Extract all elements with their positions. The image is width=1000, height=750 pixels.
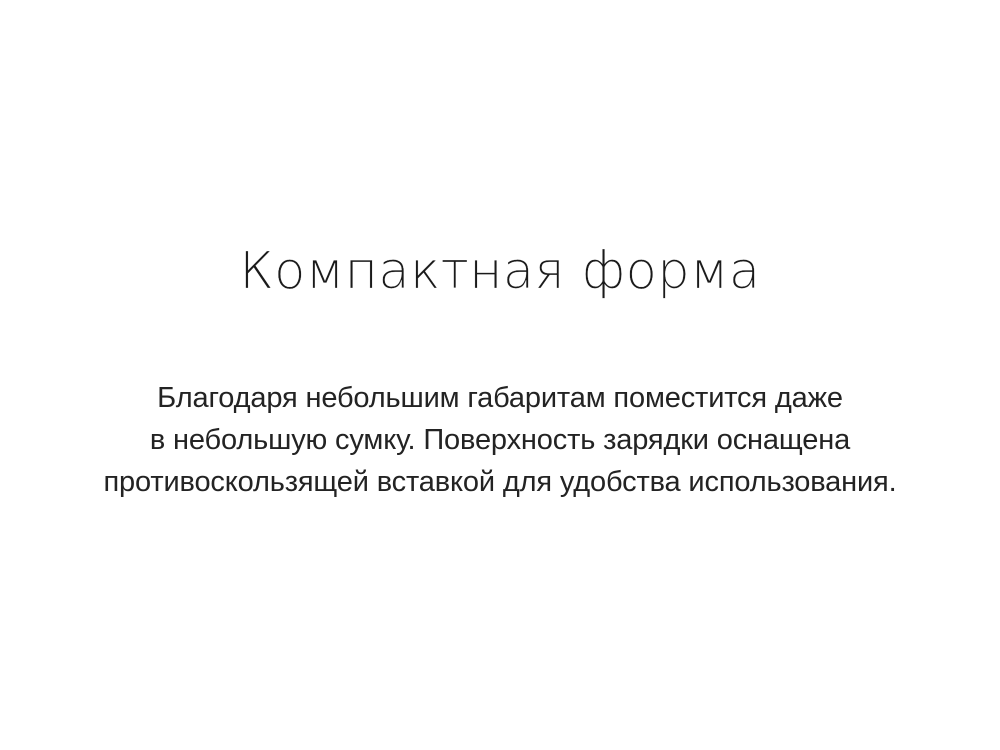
slide-canvas: Компактная форма Благодаря небольшим габ… [0, 0, 1000, 750]
slide-description: Благодаря небольшим габаритам поместится… [0, 377, 1000, 503]
page-title: Компактная форма [0, 243, 1000, 301]
description-line: Благодаря небольшим габаритам поместится… [0, 377, 1000, 419]
description-line: противоскользящей вставкой для удобства … [0, 461, 1000, 503]
description-line: в небольшую сумку. Поверхность зарядки о… [0, 419, 1000, 461]
